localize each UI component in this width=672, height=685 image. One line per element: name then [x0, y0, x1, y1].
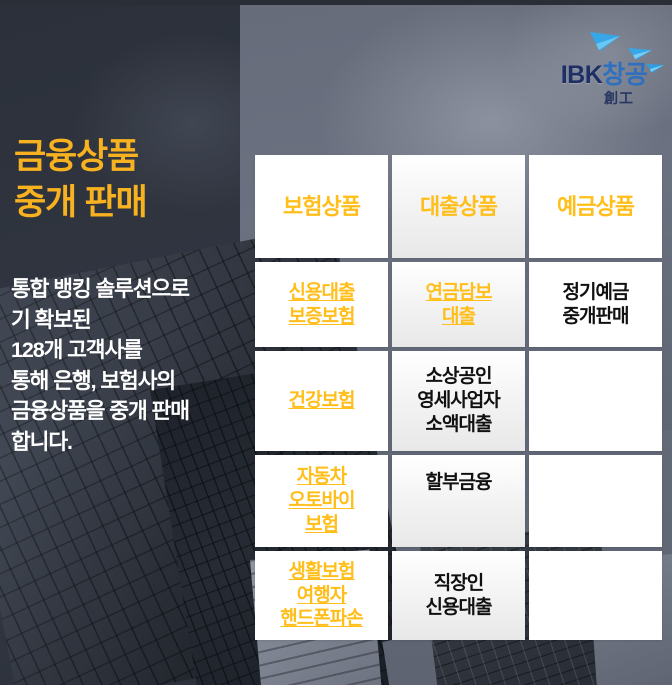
- body-line-4: 통해 은행, 보험사의: [11, 366, 243, 397]
- table-cell-empty: [529, 351, 662, 451]
- table-cell-loan-1[interactable]: 연금담보대출: [392, 262, 525, 347]
- table-cell-loan-3: 할부금융: [392, 455, 525, 547]
- headline-line-2: 중개 판매: [14, 180, 244, 226]
- table-header-insurance: 보험상품: [255, 155, 388, 258]
- brand-logo[interactable]: IBK창공 創工: [540, 18, 668, 110]
- body-line-3: 128개 고객사를: [11, 335, 243, 366]
- hero-description: 통합 뱅킹 솔루션으로 기 확보된 128개 고객사를 통해 은행, 보험사의 …: [11, 274, 243, 457]
- table-cell-loan-2: 소상공인영세사업자소액대출: [392, 351, 525, 451]
- table-cell-loan-4: 직장인신용대출: [392, 551, 525, 640]
- body-line-2: 기 확보된: [11, 305, 243, 336]
- headline-line-1: 금융상품: [14, 137, 138, 176]
- table-cell-deposit-1: 정기예금중개판매: [529, 262, 662, 347]
- top-edge-band: [0, 0, 672, 5]
- product-table: 보험상품대출상품예금상품신용대출보증보험연금담보대출정기예금중개판매건강보험소상…: [255, 155, 662, 628]
- body-line-6: 합니다.: [11, 427, 243, 458]
- table-cell-insurance-2[interactable]: 건강보험: [255, 351, 388, 451]
- table-header-loan: 대출상품: [392, 155, 525, 258]
- table-cell-insurance-3[interactable]: 자동차오토바이보험: [255, 455, 388, 547]
- table-cell-insurance-4[interactable]: 생활보험여행자핸드폰파손: [255, 551, 388, 640]
- page-title: 금융상품 중개 판매: [14, 134, 244, 225]
- logo-text-ibk: IBK: [561, 61, 603, 89]
- logo-text-changgong: 창공: [602, 61, 647, 89]
- slide-canvas: IBK창공 創工 금융상품 중개 판매 통합 뱅킹 솔루션으로 기 확보된 12…: [0, 0, 672, 685]
- body-line-1: 통합 뱅킹 솔루션으로: [11, 274, 243, 305]
- table-cell-empty: [529, 455, 662, 547]
- table-cell-empty: [529, 551, 662, 640]
- logo-subtext: 創工: [540, 88, 668, 108]
- table-cell-insurance-1[interactable]: 신용대출보증보험: [255, 262, 388, 347]
- table-header-deposit: 예금상품: [529, 155, 662, 258]
- body-line-5: 금융상품을 중개 판매: [11, 396, 243, 427]
